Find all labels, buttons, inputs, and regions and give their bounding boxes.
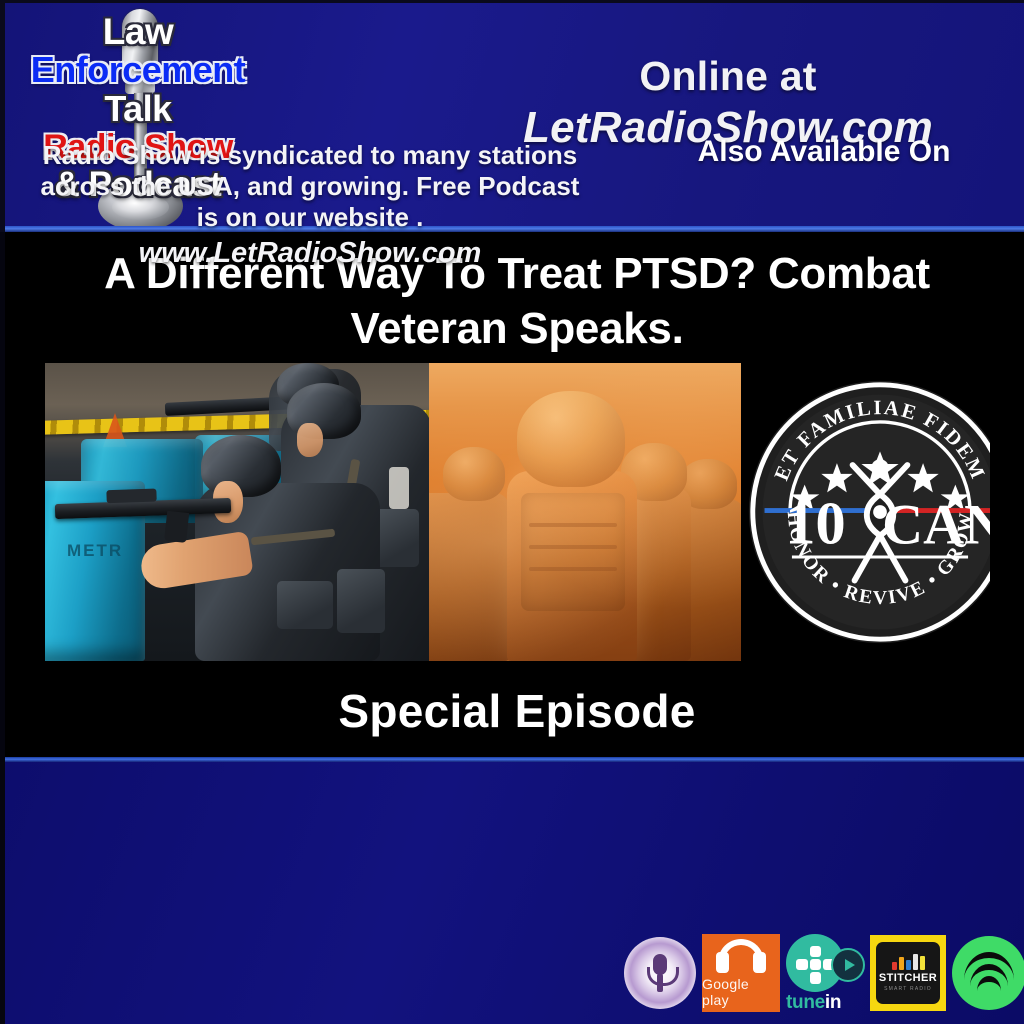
tunein-label: tunein	[786, 992, 856, 1014]
google-play-icon[interactable]: Google play	[702, 934, 780, 1012]
tencan-logo-container: ET FAMILIAE FIDEM	[741, 363, 990, 661]
platform-google-play[interactable]: Google play	[702, 934, 780, 1012]
syndication-text: Radio Show is syndicated to many station…	[4, 140, 616, 270]
platform-tunein[interactable]: tunein	[786, 932, 864, 1014]
tunein-label-part1: tune	[786, 992, 825, 1013]
spotify-icon[interactable]	[952, 936, 1024, 1010]
soldiers-photo	[429, 363, 741, 661]
play-icon	[831, 948, 865, 982]
platform-spotify[interactable]	[952, 936, 1024, 1010]
stitcher-sublabel: SMART RADIO	[884, 986, 932, 992]
stitcher-bars-icon	[892, 954, 925, 970]
online-at-label: Online at	[458, 53, 998, 100]
syndication-line-2: across the USA, and growing. Free Podcas…	[41, 171, 580, 201]
tunein-icon[interactable]: tunein	[786, 932, 864, 1014]
syndication-line-3: is on our website .	[197, 202, 424, 232]
stitcher-icon[interactable]: STITCHER SMART RADIO	[870, 935, 946, 1011]
episode-subtitle: Special Episode	[5, 684, 1024, 738]
podcast-cover-art: Law Enforcement Talk Radio Show & Podcas…	[0, 0, 1024, 1024]
google-play-label: Google play	[702, 976, 780, 1008]
also-available-on-label: Also Available On	[630, 135, 1018, 169]
logo-line-talk: Talk	[13, 91, 263, 127]
platform-stitcher[interactable]: STITCHER SMART RADIO	[870, 935, 946, 1011]
tencan-badge-icon: ET FAMILIAE FIDEM	[743, 375, 990, 649]
syndication-line-1: Radio Show is syndicated to many station…	[43, 140, 578, 170]
footer-website-url[interactable]: www.LetRadioShow.com	[4, 236, 616, 271]
swat-photo: METR	[45, 363, 429, 661]
platform-icon-row: Google play tunein	[624, 928, 1024, 1018]
platform-apple-podcasts[interactable]	[624, 937, 696, 1009]
stitcher-label: STITCHER	[879, 972, 937, 984]
logo-line-law: Law	[13, 13, 263, 50]
logo-line-enforcement: Enforcement	[13, 52, 263, 88]
tunein-label-part2: in	[825, 992, 841, 1013]
image-strip: METR	[45, 363, 990, 661]
main-panel: A Different Way To Treat PTSD? Combat Ve…	[0, 232, 1024, 762]
apple-podcasts-icon[interactable]	[624, 937, 696, 1009]
